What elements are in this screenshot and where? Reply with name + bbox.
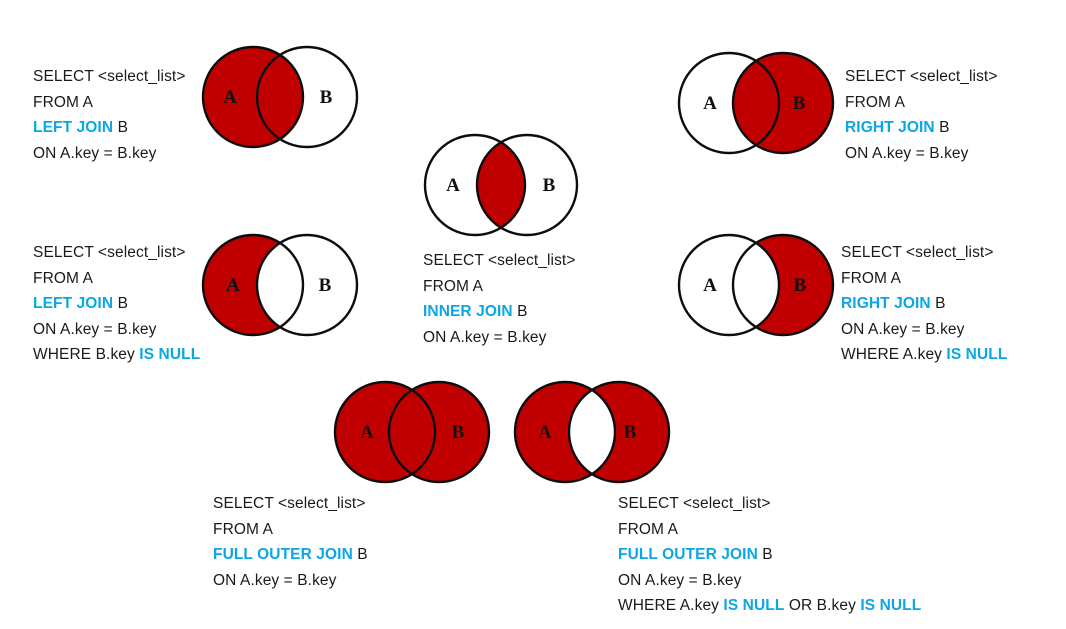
- venn-label-a: A: [538, 422, 552, 443]
- sql-keyword: RIGHT JOIN: [841, 295, 931, 312]
- venn-full-outer-anti-join: A B: [510, 378, 685, 490]
- code-block-full-outer-anti-join: SELECT <select_list> FROM A FULL OUTER J…: [618, 491, 921, 619]
- joins-poster: SELECT <select_list> FROM A LEFT JOIN B …: [0, 0, 1066, 629]
- code-line: WHERE A.key IS NULL OR B.key IS NULL: [618, 593, 921, 619]
- venn-full-outer-join: A B: [330, 378, 505, 490]
- venn-right-join: A B: [672, 46, 842, 161]
- code-block-right-join: SELECT <select_list> FROM A RIGHT JOIN B…: [845, 64, 997, 166]
- code-block-full-outer-join: SELECT <select_list> FROM A FULL OUTER J…: [213, 491, 368, 593]
- venn-label-a: A: [703, 275, 717, 296]
- sql-keyword: IS NULL: [139, 346, 200, 363]
- where-prefix: WHERE A.key: [841, 346, 946, 363]
- code-block-right-anti-join: SELECT <select_list> FROM A RIGHT JOIN B…: [841, 240, 1007, 368]
- code-block-inner-join: SELECT <select_list> FROM A INNER JOIN B…: [423, 248, 575, 350]
- code-line-tail: B: [517, 303, 527, 320]
- code-line: SELECT <select_list>: [33, 240, 200, 266]
- code-line: ON A.key = B.key: [33, 141, 185, 167]
- code-line: FULL OUTER JOIN B: [213, 542, 368, 568]
- code-line-tail: B: [118, 295, 128, 312]
- code-line: FROM A: [845, 90, 997, 116]
- venn-label-b: B: [793, 93, 806, 114]
- code-line: FROM A: [618, 517, 921, 543]
- venn-right-anti-join: A B: [672, 228, 842, 343]
- venn-label-b: B: [543, 175, 556, 196]
- code-line: ON A.key = B.key: [33, 317, 200, 343]
- where-prefix: WHERE B.key: [33, 346, 139, 363]
- code-line-tail: B: [357, 546, 367, 563]
- code-line: RIGHT JOIN B: [845, 115, 997, 141]
- sql-keyword: IS NULL: [946, 346, 1007, 363]
- code-line-tail: B: [939, 119, 949, 136]
- code-line: SELECT <select_list>: [845, 64, 997, 90]
- venn-left-anti-join: A B: [196, 228, 366, 343]
- code-block-left-anti-join: SELECT <select_list> FROM A LEFT JOIN B …: [33, 240, 200, 368]
- venn-label-b: B: [452, 422, 465, 443]
- venn-label-a: A: [360, 422, 374, 443]
- code-line: SELECT <select_list>: [841, 240, 1007, 266]
- code-line: LEFT JOIN B: [33, 115, 185, 141]
- venn-left-join: A B: [196, 40, 366, 155]
- code-line: ON A.key = B.key: [618, 568, 921, 594]
- sql-keyword: IS NULL: [860, 597, 921, 614]
- sql-keyword: IS NULL: [723, 597, 784, 614]
- venn-label-b: B: [624, 422, 637, 443]
- code-line: ON A.key = B.key: [845, 141, 997, 167]
- code-line: WHERE A.key IS NULL: [841, 342, 1007, 368]
- venn-label-a: A: [226, 275, 240, 296]
- code-line: SELECT <select_list>: [33, 64, 185, 90]
- sql-keyword: FULL OUTER JOIN: [213, 546, 353, 563]
- or-operator: OR B.key: [784, 597, 860, 614]
- code-line: RIGHT JOIN B: [841, 291, 1007, 317]
- code-line: SELECT <select_list>: [213, 491, 368, 517]
- sql-keyword: LEFT JOIN: [33, 119, 113, 136]
- where-prefix: WHERE A.key: [618, 597, 723, 614]
- code-block-left-join: SELECT <select_list> FROM A LEFT JOIN B …: [33, 64, 185, 166]
- venn-label-a: A: [223, 87, 237, 108]
- code-line: ON A.key = B.key: [841, 317, 1007, 343]
- venn-label-b: B: [319, 275, 332, 296]
- code-line: SELECT <select_list>: [618, 491, 921, 517]
- venn-label-a: A: [446, 175, 460, 196]
- venn-label-b: B: [320, 87, 333, 108]
- code-line: ON A.key = B.key: [213, 568, 368, 594]
- code-line: SELECT <select_list>: [423, 248, 575, 274]
- code-line: FULL OUTER JOIN B: [618, 542, 921, 568]
- code-line-tail: B: [762, 546, 772, 563]
- code-line: LEFT JOIN B: [33, 291, 200, 317]
- code-line: FROM A: [213, 517, 368, 543]
- code-line: FROM A: [841, 266, 1007, 292]
- code-line: FROM A: [33, 90, 185, 116]
- code-line: FROM A: [423, 274, 575, 300]
- code-line-tail: B: [118, 119, 128, 136]
- venn-inner-join: A B: [418, 128, 593, 243]
- venn-label-a: A: [703, 93, 717, 114]
- code-line: FROM A: [33, 266, 200, 292]
- sql-keyword: INNER JOIN: [423, 303, 513, 320]
- code-line: INNER JOIN B: [423, 299, 575, 325]
- code-line: ON A.key = B.key: [423, 325, 575, 351]
- code-line-tail: B: [935, 295, 945, 312]
- sql-keyword: FULL OUTER JOIN: [618, 546, 758, 563]
- code-line: WHERE B.key IS NULL: [33, 342, 200, 368]
- venn-label-b: B: [794, 275, 807, 296]
- sql-keyword: RIGHT JOIN: [845, 119, 935, 136]
- sql-keyword: LEFT JOIN: [33, 295, 113, 312]
